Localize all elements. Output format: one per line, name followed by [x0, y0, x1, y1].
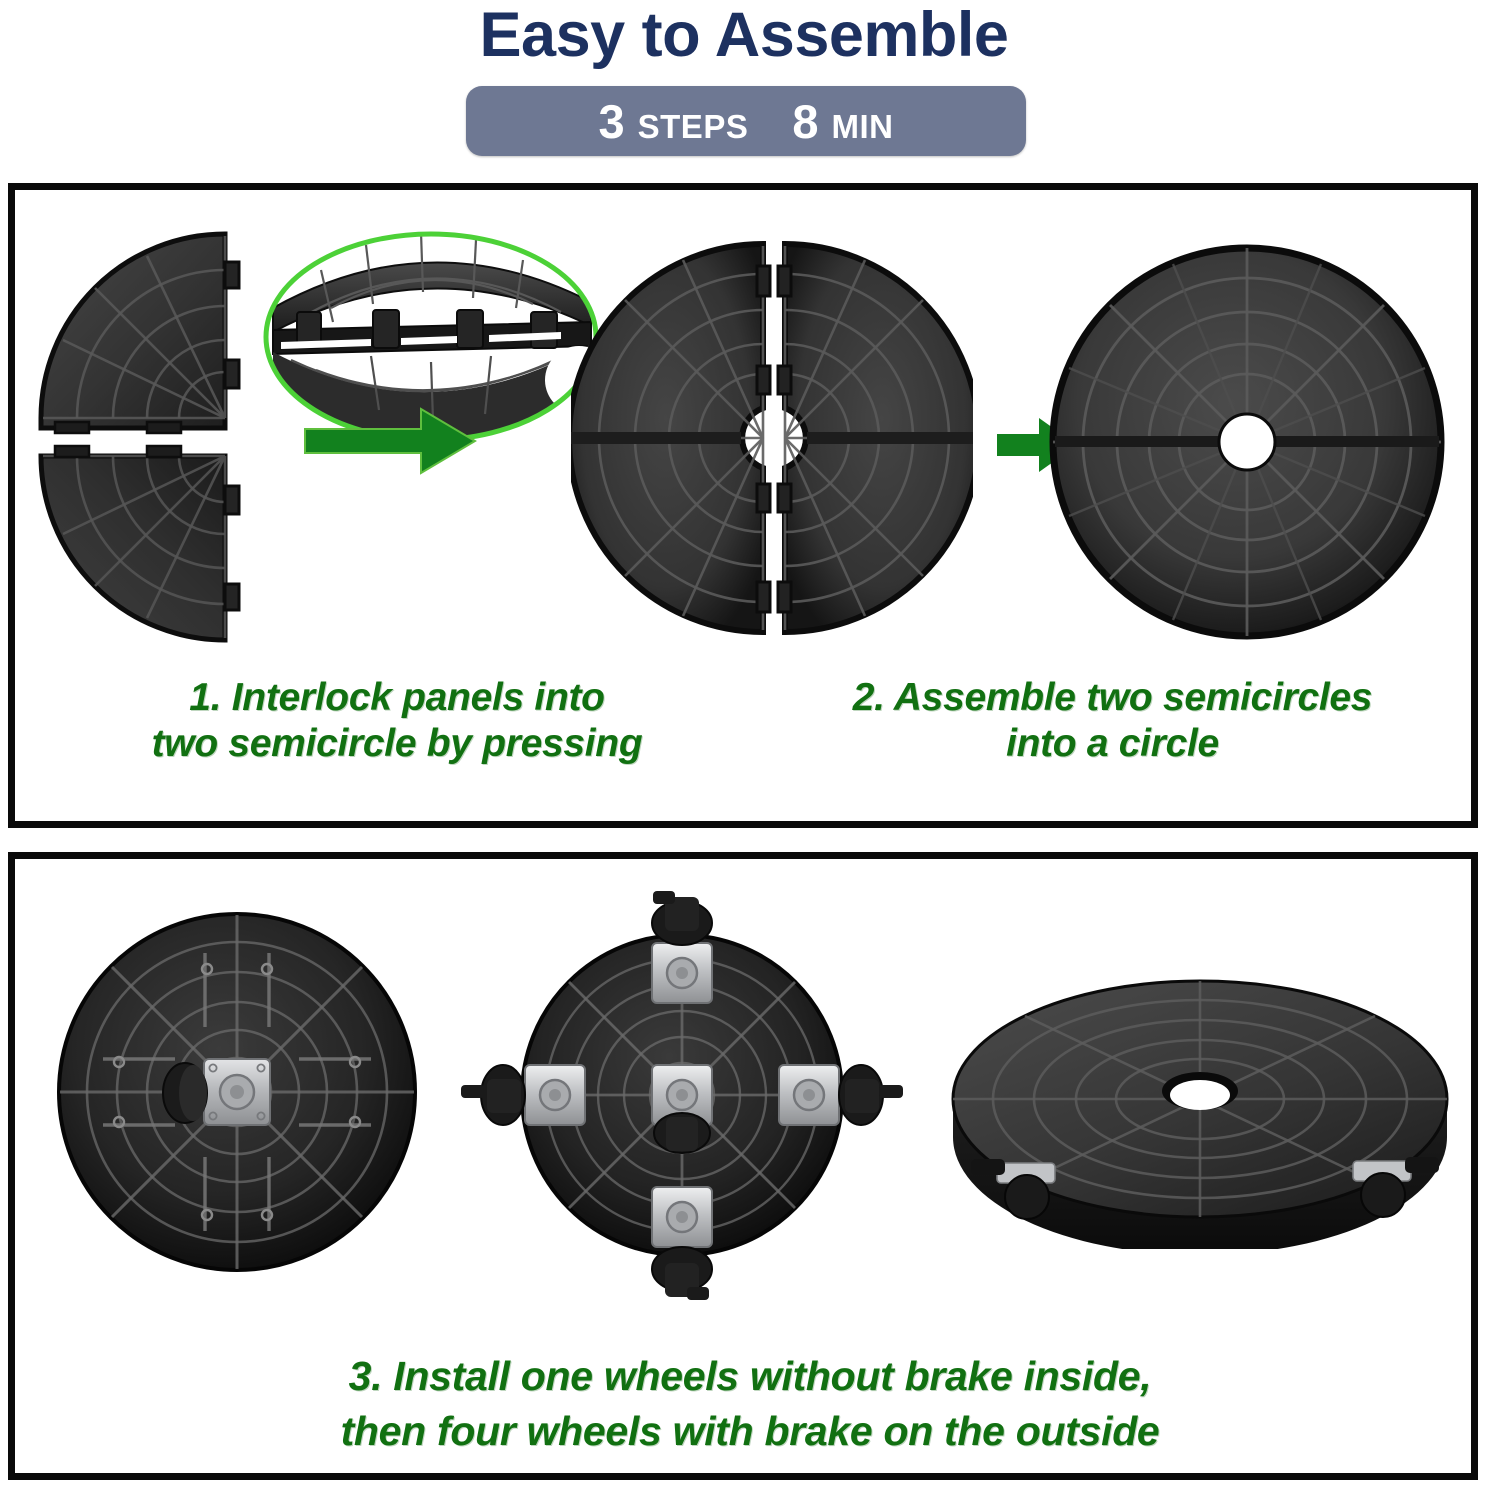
step-3-caption-line-1: 3. Install one wheels without brake insi… — [55, 1349, 1445, 1404]
minutes-label: MIN — [831, 110, 893, 143]
page-title: Easy to Assemble — [0, 0, 1488, 74]
step-3-stage: 3. Install one wheels without brake insi… — [15, 859, 1471, 1473]
caster-bottom-with-brake — [652, 1187, 712, 1300]
steps-1-2-panel: 1. Interlock panels into two semicircle … — [8, 183, 1478, 828]
steps-segment: 3 STEPS — [599, 98, 749, 145]
step-1-caption: 1. Interlock panels into two semicircle … — [37, 675, 757, 767]
header: Easy to Assemble 3 STEPS 8 MIN — [0, 0, 1488, 175]
step-3-caption-line-2: then four wheels with brake on the outsi… — [55, 1404, 1445, 1459]
two-semicircles-image — [571, 238, 973, 638]
assembled-circle-image — [1041, 242, 1453, 642]
base-underside-one-caster-image — [57, 907, 417, 1277]
front-right-caster — [1353, 1157, 1439, 1217]
step-3-caption: 3. Install one wheels without brake insi… — [55, 1349, 1445, 1460]
center-caster-no-brake — [652, 1065, 712, 1153]
steps-time-badge: 3 STEPS 8 MIN — [466, 86, 1026, 156]
base-assembled-angled-image — [935, 949, 1465, 1249]
step-1-caption-line-1: 1. Interlock panels into — [37, 675, 757, 721]
minutes-count: 8 — [792, 98, 818, 145]
step-1-caption-line-2: two semicircle by pressing — [37, 721, 757, 767]
step-2-caption: 2. Assemble two semicircles into a circl… — [755, 675, 1470, 767]
caster-top-with-brake — [652, 891, 712, 1003]
quarter-panels-image — [29, 222, 299, 652]
steps-count: 3 — [599, 98, 625, 145]
base-underside-five-casters-image — [447, 881, 917, 1309]
step-3-panel: 3. Install one wheels without brake insi… — [8, 852, 1478, 1480]
step-2-caption-line-1: 2. Assemble two semicircles — [755, 675, 1470, 721]
center-caster — [163, 1059, 270, 1125]
step-2-caption-line-2: into a circle — [755, 721, 1470, 767]
steps-label: STEPS — [638, 110, 749, 143]
steps-1-2-stage: 1. Interlock panels into two semicircle … — [15, 190, 1471, 821]
assembly-instruction-page: Easy to Assemble 3 STEPS 8 MIN — [0, 0, 1488, 1500]
minutes-segment: 8 MIN — [792, 98, 893, 145]
arrow-right-long-icon — [303, 405, 478, 477]
